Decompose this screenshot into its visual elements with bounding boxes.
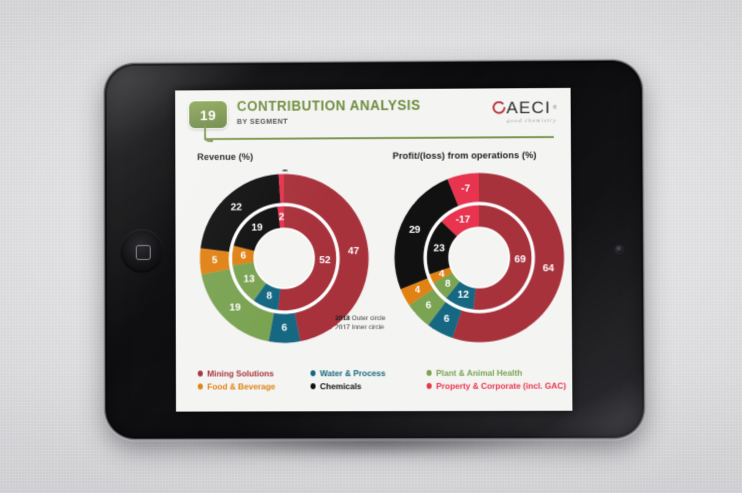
registered-mark: ® [553,104,557,110]
presentation-slide: 19 CONTRIBUTION ANALYSIS BY SEGMENT AECI [175,88,572,412]
aeci-tagline: good chemistry [492,118,556,124]
slice-value-label: 8 [445,278,451,289]
legend-label: Mining Solutions [207,368,274,378]
slice-value-label: 23 [433,243,445,254]
slice-value-label: 4 [415,285,421,296]
slice-value-label: 47 [348,246,360,257]
slice-value-label: 5 [212,255,218,266]
slice-value-label: -7 [461,183,470,194]
slice-value-label: 2 [279,212,285,223]
legend-swatch-icon [198,371,203,376]
slide-header: 19 CONTRIBUTION ANALYSIS BY SEGMENT AECI [175,88,571,142]
aeci-wordmark: AECI [506,99,551,116]
legend-item-mining-solutions: Mining Solutions [198,368,301,378]
chart-title-revenue: Revenue (%) [197,152,253,162]
page-title: CONTRIBUTION ANALYSIS [237,98,421,115]
legend-item-property-corporate: Property & Corporate (incl. GAC) [427,381,567,391]
slice-value-label: 1 [282,169,288,174]
page-number-badge: 19 [188,100,228,129]
slice-value-label: 4 [439,269,445,280]
legend-swatch-icon [198,384,203,389]
tablet-device: 19 CONTRIBUTION ANALYSIS BY SEGMENT AECI [105,60,644,438]
slice-value-label: 22 [231,202,243,213]
slice-value-label: 6 [282,323,288,334]
chart-legend: Mining Solutions Water & Process Plant &… [198,368,554,392]
legend-label: Property & Corporate (incl. GAC) [436,381,566,391]
legend-label: Food & Beverage [207,381,275,391]
header-divider [204,136,554,140]
legend-label: Plant & Animal Health [436,368,522,378]
slice-value-label: 19 [229,302,241,313]
slice-value-label: 6 [241,250,247,261]
slice-value-label: 12 [458,290,470,301]
aeci-mark-icon [492,101,505,114]
slice-value-label: 52 [319,255,331,266]
slice-value-label: 19 [251,222,263,233]
legend-item-plant-animal-health: Plant & Animal Health [427,368,567,378]
page-subtitle: BY SEGMENT [237,117,288,126]
chart-title-profit: Profit/(loss) from operations (%) [393,150,537,161]
scene: 19 CONTRIBUTION ANALYSIS BY SEGMENT AECI [0,0,742,493]
donut-chart-revenue: 476195221528136192 [195,169,373,348]
home-button-square-icon [135,244,150,259]
aeci-logo: AECI ® good chemistry [492,99,556,124]
legend-swatch-icon [311,371,316,376]
legend-label: Chemicals [320,381,362,391]
page-number-text: 19 [200,107,216,123]
legend-item-food-beverage: Food & Beverage [198,381,301,391]
slice-value-label: 8 [266,291,272,302]
tablet-screen: 19 CONTRIBUTION ANALYSIS BY SEGMENT AECI [175,88,572,412]
slice-value-label: 69 [514,254,526,265]
slice-value-label: 13 [243,274,255,285]
legend-swatch-icon [311,384,316,389]
slice-value-label: 64 [543,263,555,274]
